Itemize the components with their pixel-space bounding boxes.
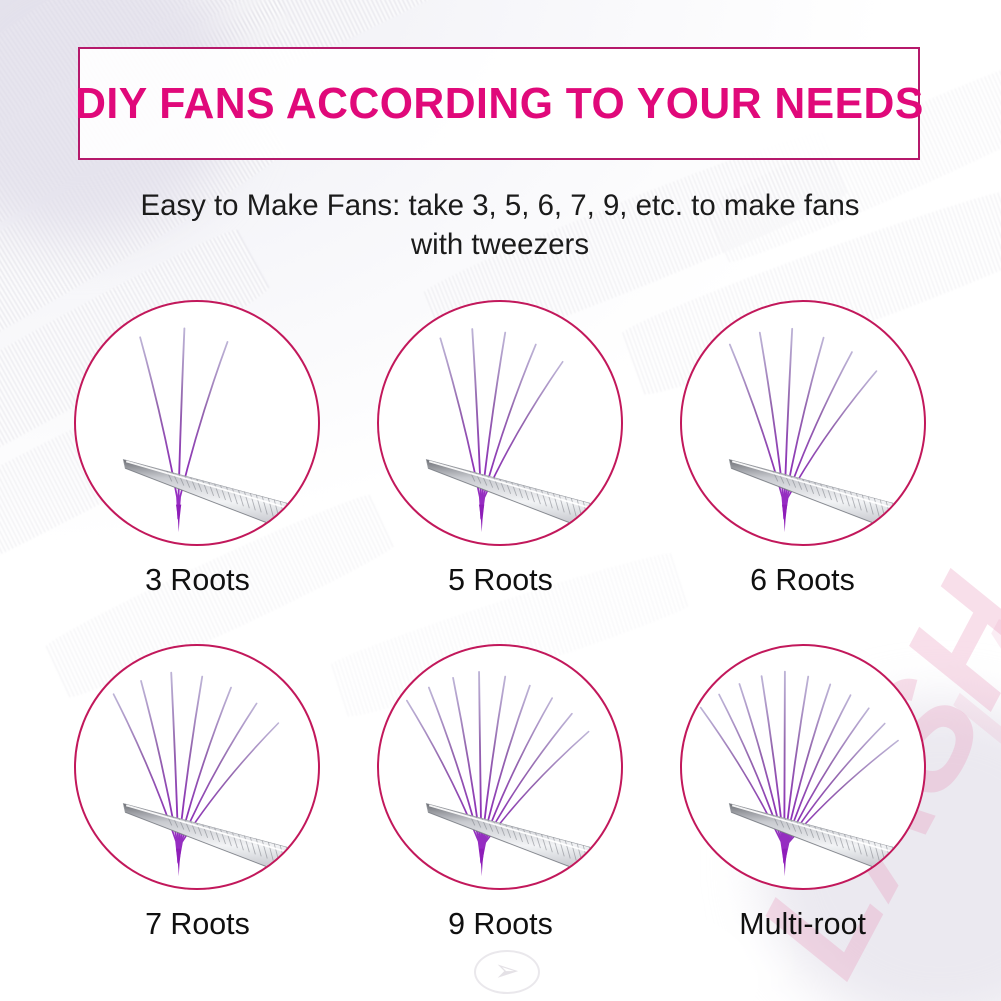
fan-card-5-roots[interactable]: 5 Roots <box>353 300 648 636</box>
page-title: DIY FANS ACCORDING TO YOUR NEEDS <box>75 79 924 129</box>
fan-card-label: 6 Roots <box>750 562 855 598</box>
fan-card-multi-root[interactable]: Multi-root <box>655 644 950 980</box>
fan-card-label: 9 Roots <box>448 906 553 942</box>
fan-illustration-circle <box>74 644 320 890</box>
fan-card-9-roots[interactable]: 9 Roots <box>353 644 648 980</box>
fan-illustration-circle <box>680 644 926 890</box>
fan-card-7-roots[interactable]: 7 Roots <box>50 644 345 980</box>
fan-illustration-circle <box>377 300 623 546</box>
fan-illustration-circle <box>680 300 926 546</box>
fan-card-3-roots[interactable]: 3 Roots <box>50 300 345 636</box>
subtitle-line-1: Easy to Make Fans: take 3, 5, 6, 7, 9, e… <box>98 186 902 225</box>
fan-card-6-roots[interactable]: 6 Roots <box>655 300 950 636</box>
fan-card-label: Multi-root <box>739 906 866 942</box>
fan-card-label: 3 Roots <box>145 562 250 598</box>
fan-card-label: 7 Roots <box>145 906 250 942</box>
subtitle-line-2: with tweezers <box>98 225 902 264</box>
title-frame: DIY FANS ACCORDING TO YOUR NEEDS <box>78 47 920 160</box>
fan-illustration-circle <box>74 300 320 546</box>
fan-variants-grid: 3 Roots 5 Roots 6 Roots 7 Roots 9 Roots … <box>50 300 950 980</box>
subtitle: Easy to Make Fans: take 3, 5, 6, 7, 9, e… <box>98 186 902 264</box>
fan-card-label: 5 Roots <box>448 562 553 598</box>
fan-illustration-circle <box>377 644 623 890</box>
